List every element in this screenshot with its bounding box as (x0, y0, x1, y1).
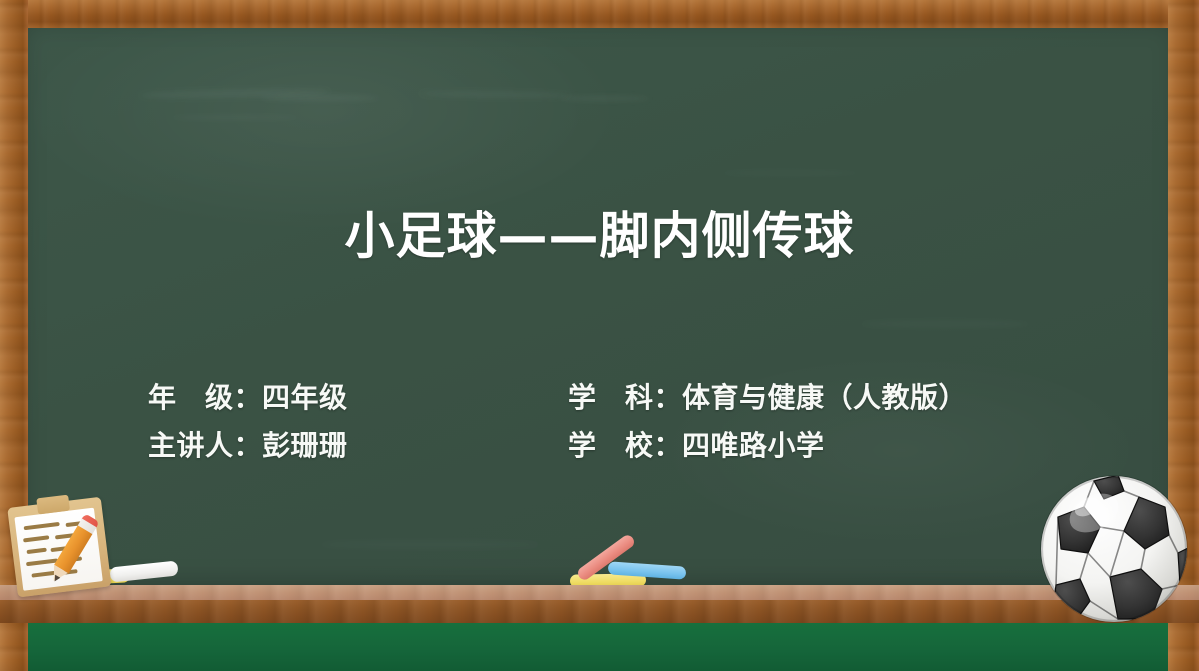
chalkboard-surface (20, 20, 1179, 586)
soccer-ball-icon (1038, 473, 1190, 625)
chalk-smudge (860, 320, 1030, 328)
floor-band (0, 622, 1199, 671)
meta-subject: 学 科：体育与健康（人教版） (568, 376, 967, 416)
chalk-smudge (720, 170, 860, 176)
meta-grade: 年 级：四年级 (148, 376, 348, 416)
chalk-smudge (420, 91, 570, 98)
presentation-slide: 小足球——脚内侧传球 年 级：四年级 主讲人：彭珊珊 学 科：体育与健康（人教版… (0, 0, 1199, 671)
frame-top-rail (0, 0, 1199, 28)
chalk-smudge (560, 96, 650, 101)
meta-school: 学 校：四唯路小学 (568, 424, 825, 464)
clipboard-icon (7, 491, 114, 598)
slide-title: 小足球——脚内侧传球 (0, 196, 1199, 268)
meta-presenter: 主讲人：彭珊珊 (148, 424, 348, 464)
ledge-face (0, 600, 1199, 623)
chalk-smudge (320, 540, 540, 549)
chalk-smudge (170, 115, 300, 120)
chalk-smudge (260, 95, 380, 101)
